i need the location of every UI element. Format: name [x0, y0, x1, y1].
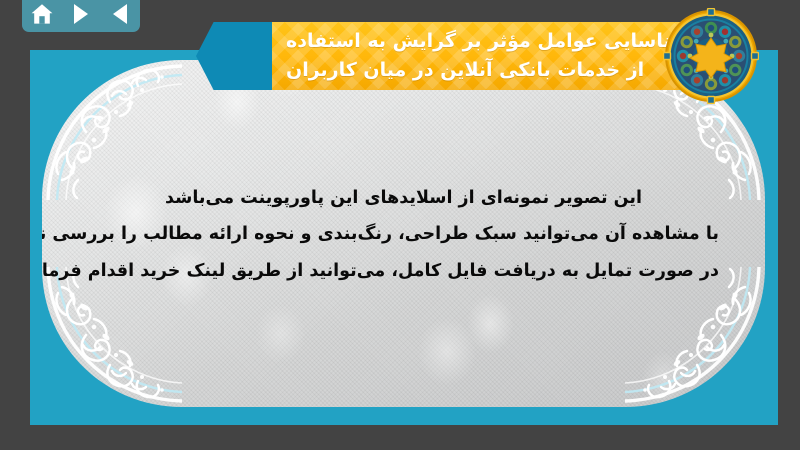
- arrow-left-icon: [113, 4, 127, 24]
- ornament-corner-top-left: [42, 60, 182, 200]
- previous-slide-button[interactable]: [106, 1, 134, 27]
- slide-title-banner: شناسایی عوامل مؤثر بر گرایش به استفاده ا…: [272, 22, 732, 90]
- slide-content-area: این تصویر نمونه‌ای از اسلایدهای این پاور…: [42, 60, 765, 407]
- slide-body-line-2: با مشاهده آن می‌توانید سبک طراحی، رنگ‌بن…: [88, 216, 719, 252]
- slide-title-line-2: از خدمات بانکی آنلاین در میان کاربران: [286, 56, 644, 85]
- slide-panel: این تصویر نمونه‌ای از اسلایدهای این پاور…: [30, 50, 778, 425]
- slide-navigation-bar: [22, 0, 140, 32]
- home-button[interactable]: [28, 1, 56, 27]
- home-icon: [30, 3, 54, 25]
- slide-body-line-1: این تصویر نمونه‌ای از اسلایدهای این پاور…: [88, 180, 719, 216]
- slide-title-line-1: شناسایی عوامل مؤثر بر گرایش به استفاده: [286, 27, 690, 56]
- arrow-right-icon: [74, 4, 88, 24]
- slide-root: شناسایی عوامل مؤثر بر گرایش به استفاده ا…: [0, 0, 800, 450]
- slide-body-line-3: در صورت تمایل به دریافت فایل کامل، می‌تو…: [88, 253, 719, 289]
- next-slide-button[interactable]: [67, 1, 95, 27]
- slide-body-text: این تصویر نمونه‌ای از اسلایدهای این پاور…: [42, 180, 765, 289]
